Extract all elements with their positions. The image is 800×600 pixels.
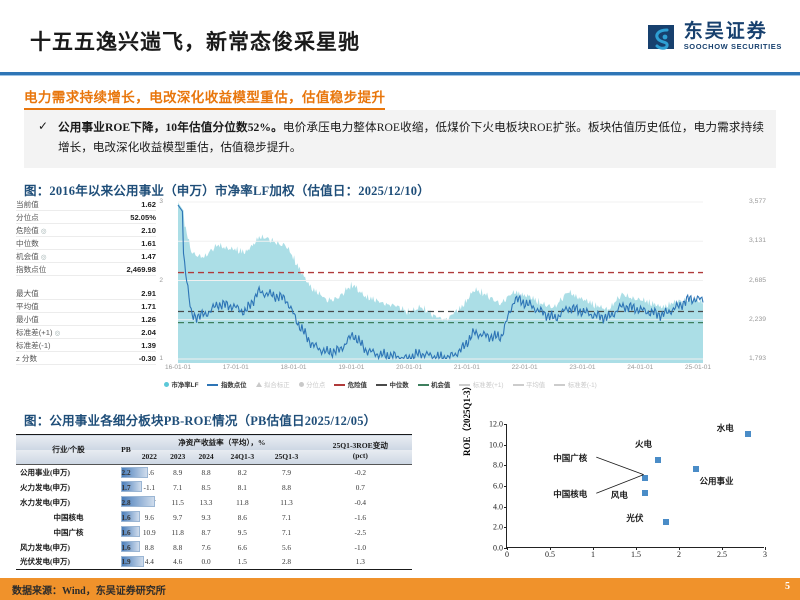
table-row[interactable]: 水力发电(申万)2.810.711.513.311.811.3-0.4 xyxy=(16,495,412,510)
scatter-point[interactable] xyxy=(642,490,648,496)
cell-pb: 2.2 xyxy=(117,465,135,480)
scatter-y-tickmark xyxy=(504,424,507,425)
legend-dash-icon xyxy=(376,384,387,386)
chart1-left-axis: 321 xyxy=(156,198,164,363)
legend-line-icon xyxy=(207,384,218,386)
cell-pb: 1.6 xyxy=(117,525,135,540)
scatter-y-tickmark xyxy=(504,507,507,508)
slide-header: 十五五逸兴遄飞，新常态俊采星驰 东吴证券 SOOCHOW SECURITIES xyxy=(0,0,800,74)
stat-row: 分位点52.05% xyxy=(16,211,156,224)
cell-industry: 光伏发电(申万) xyxy=(16,555,117,570)
stat-value: 1.26 xyxy=(141,313,156,325)
cell-roe: 7.6 xyxy=(192,540,220,555)
cell-roe: 4.6 xyxy=(164,555,192,570)
chart1-plot-area xyxy=(164,198,744,363)
cell-pb: 1.9 xyxy=(117,555,135,570)
stat-value: 2,469.98 xyxy=(126,263,156,275)
axis-tick: 19-01-01 xyxy=(338,364,364,371)
stat-label: 当前值 xyxy=(16,198,39,210)
stat-row: 标准差(+1) ◎2.04 xyxy=(16,326,156,339)
cell-industry: 中国核电 xyxy=(16,510,117,525)
cell-roe: 8.8 xyxy=(164,540,192,555)
scatter-x-tickmark xyxy=(636,547,637,550)
stats-group-top: 当前值1.62分位点52.05%危险值 ◎2.10中位数1.61机会值 ◎1.4… xyxy=(16,198,156,276)
axis-tick: 20-01-01 xyxy=(396,364,422,371)
scatter-x-tickmark xyxy=(722,547,723,550)
scatter-annotation: 风电 xyxy=(611,489,628,501)
cell-industry: 风力发电(申万) xyxy=(16,540,117,555)
scatter-annotation: 火电 xyxy=(635,438,652,450)
stat-row: 标准差(-1)1.39 xyxy=(16,339,156,352)
legend-item[interactable]: 机会值 xyxy=(418,380,451,389)
th-year: 2024 xyxy=(192,450,220,465)
cell-roe-delta: -0.4 xyxy=(309,495,412,510)
legend-dot-icon xyxy=(164,382,169,387)
scatter-x-tickmark xyxy=(765,547,766,550)
axis-tick: 16-01-01 xyxy=(165,364,191,371)
legend-dot-icon xyxy=(299,382,304,387)
stat-label: 指数点位 xyxy=(16,263,46,275)
chart1-area-series xyxy=(178,203,703,363)
cell-roe: 8.5 xyxy=(192,480,220,495)
axis-tick: 24-01-01 xyxy=(627,364,653,371)
cell-roe: 8.8 xyxy=(192,465,220,480)
th-year: 25Q1-3 xyxy=(264,450,308,465)
axis-tick: 1 xyxy=(159,355,163,362)
stat-row: 平均值1.71 xyxy=(16,300,156,313)
scatter-point[interactable] xyxy=(655,457,661,463)
scatter-annotation: 中国广核 xyxy=(553,452,587,464)
pb-value: 1.9 xyxy=(117,557,135,566)
legend-dash-icon xyxy=(418,384,429,386)
table-row[interactable]: 火力发电(申万)1.7-1.17.18.58.18.80.7 xyxy=(16,480,412,495)
cell-roe: 11.8 xyxy=(220,495,264,510)
page-number: 5 xyxy=(785,581,790,592)
cell-industry: 水力发电(申万) xyxy=(16,495,117,510)
th-year: 24Q1-3 xyxy=(220,450,264,465)
legend-item[interactable]: 分位点 xyxy=(299,380,326,389)
cell-pb: 2.8 xyxy=(117,495,135,510)
axis-tick: 18-01-01 xyxy=(281,364,307,371)
check-icon: ✓ xyxy=(38,119,48,134)
summary-lead: 公用事业ROE下降，10年估值分位数52%。 xyxy=(58,121,283,134)
valuation-chart-panel: 当前值1.62分位点52.05%危险值 ◎2.10中位数1.61机会值 ◎1.4… xyxy=(16,198,784,394)
scatter-point[interactable] xyxy=(693,466,699,472)
cell-roe: 7.1 xyxy=(264,525,308,540)
cell-roe: 9.7 xyxy=(164,510,192,525)
logo-text-zh: 东吴证券 xyxy=(684,22,782,41)
cell-roe-delta: -2.5 xyxy=(309,525,412,540)
stat-label: 机会值 ◎ xyxy=(16,250,47,262)
cell-roe: 13.3 xyxy=(192,495,220,510)
stat-row: 危险值 ◎2.10 xyxy=(16,224,156,237)
legend-item[interactable]: 标准差(-1) xyxy=(554,380,597,389)
stat-label: 最大值 xyxy=(16,287,39,299)
figure1-caption: 图：2016年以来公用事业（申万）市净率LF加权（估值日：2025/12/10） xyxy=(24,180,430,199)
page-title: 十五五逸兴遄飞，新常态俊采星驰 xyxy=(30,26,360,56)
axis-tick: 1,793 xyxy=(749,355,766,362)
header-divider-light xyxy=(0,75,800,76)
stats-group-bottom: 最大值2.91平均值1.71最小值1.26标准差(+1) ◎2.04标准差(-1… xyxy=(16,287,156,365)
cell-pb: 1.6 xyxy=(117,510,135,525)
pb-value: 1.7 xyxy=(117,483,135,492)
stat-value: 1.47 xyxy=(141,250,156,262)
legend-triangle-icon xyxy=(256,382,262,387)
gear-icon: ◎ xyxy=(41,228,47,235)
scatter-y-tickmark xyxy=(504,465,507,466)
pb-roe-table: 行业/个股 PB 净资产收益率（平均），% 25Q1-3ROE变动 (pct) … xyxy=(16,434,412,570)
legend-item[interactable]: 中位数 xyxy=(376,380,409,389)
legend-item[interactable]: 指数点位 xyxy=(207,380,246,389)
cell-roe: 11.3 xyxy=(264,495,308,510)
scatter-x-tickmark xyxy=(507,547,508,550)
stat-row: 机会值 ◎1.47 xyxy=(16,250,156,263)
axis-tick: 3,577 xyxy=(749,198,766,205)
cell-roe: 8.1 xyxy=(220,480,264,495)
axis-tick: 3,131 xyxy=(749,237,766,244)
stat-label: 危险值 ◎ xyxy=(16,224,47,236)
axis-tick: 17-01-01 xyxy=(223,364,249,371)
legend-label: 拟合标正 xyxy=(264,380,290,389)
cell-roe: 9.5 xyxy=(220,525,264,540)
axis-tick: 23-01-01 xyxy=(569,364,595,371)
scatter-annotation: 公用事业 xyxy=(700,475,734,487)
chart1-svg xyxy=(164,198,744,363)
legend-label: 指数点位 xyxy=(221,380,247,389)
stat-value: 1.39 xyxy=(141,339,156,351)
cell-roe: 11.5 xyxy=(164,495,192,510)
legend-label: 标准差(+1) xyxy=(473,380,504,389)
stat-row: z 分数-0.30 xyxy=(16,352,156,365)
scatter-x-tickmark xyxy=(550,547,551,550)
valuation-stats-table: 当前值1.62分位点52.05%危险值 ◎2.10中位数1.61机会值 ◎1.4… xyxy=(16,198,156,365)
slide-footer: 数据来源：Wind，东吴证券研究所 5 xyxy=(0,578,800,600)
stat-label: 最小值 xyxy=(16,313,39,325)
stat-row: 指数点位2,469.98 xyxy=(16,263,156,276)
gear-icon: ◎ xyxy=(41,254,47,261)
figure2-caption: 图：公用事业各细分板块PB-ROE情况（PB估值日2025/12/05） xyxy=(24,410,376,429)
pb-value: 1.6 xyxy=(117,528,135,537)
pb-value: 2.2 xyxy=(117,468,135,477)
stat-label: 分位点 xyxy=(16,211,39,223)
th-roe-delta-l1: 25Q1-3ROE变动 xyxy=(333,441,388,450)
stat-label: 平均值 xyxy=(16,300,39,312)
cell-roe: 0.0 xyxy=(192,555,220,570)
cell-roe: 7.1 xyxy=(264,510,308,525)
cell-roe-delta: 0.7 xyxy=(309,480,412,495)
scatter-annotation: 光伏 xyxy=(626,512,643,524)
axis-tick: 2,685 xyxy=(749,277,766,284)
legend-dash-icon xyxy=(334,384,345,386)
logo-text-en: SOOCHOW SECURITIES xyxy=(684,41,782,52)
table-header-row-1: 行业/个股 PB 净资产收益率（平均），% 25Q1-3ROE变动 (pct) xyxy=(16,435,412,450)
cell-roe: 1.5 xyxy=(220,555,264,570)
cell-roe: 8.8 xyxy=(264,480,308,495)
pb-value: 2.8 xyxy=(117,498,135,507)
cell-roe: 9.3 xyxy=(192,510,220,525)
scatter-annotation: 中国核电 xyxy=(553,488,587,500)
table-row[interactable]: 中国核电1.69.69.79.38.67.1-1.6 xyxy=(16,510,412,525)
axis-tick: 3 xyxy=(159,198,163,205)
company-logo: 东吴证券 SOOCHOW SECURITIES xyxy=(648,22,782,52)
axis-tick: 2,239 xyxy=(749,316,766,323)
table-header: 行业/个股 PB 净资产收益率（平均），% 25Q1-3ROE变动 (pct) … xyxy=(16,435,412,465)
scatter-y-tickmark xyxy=(504,486,507,487)
pb-roe-scatter: ROE（2025Q1-3） PB 0.02.04.06.08.010.012.0… xyxy=(462,418,784,588)
axis-tick: 22-01-01 xyxy=(512,364,538,371)
summary-bullet: ✓ 公用事业ROE下降，10年估值分位数52%。电价承压电力整体ROE收缩，低煤… xyxy=(38,118,764,158)
scatter-annotation: 水电 xyxy=(717,422,734,434)
cell-pb: 1.7 xyxy=(117,480,135,495)
pb-value: 1.6 xyxy=(117,543,135,552)
cell-industry: 火力发电(申万) xyxy=(16,480,117,495)
slide-root: 十五五逸兴遄飞，新常态俊采星驰 东吴证券 SOOCHOW SECURITIES … xyxy=(0,0,800,600)
table-body: 公用事业(申万)2.25.68.98.88.27.9-0.2火力发电(申万)1.… xyxy=(16,465,412,570)
stat-label: 中位数 xyxy=(16,237,39,249)
stat-row: 当前值1.62 xyxy=(16,198,156,211)
pb-value: 1.6 xyxy=(117,513,135,522)
legend-label: 危险值 xyxy=(348,380,367,389)
stat-value: 1.62 xyxy=(141,198,156,210)
stats-spacer xyxy=(16,276,156,287)
cell-roe: 6.6 xyxy=(220,540,264,555)
chart1-right-axis: 3,5773,1312,6852,2391,793 xyxy=(747,198,797,363)
scatter-x-tickmark xyxy=(679,547,680,550)
cell-roe-delta: 1.3 xyxy=(309,555,412,570)
cell-roe: 7.9 xyxy=(264,465,308,480)
scatter-point[interactable] xyxy=(745,431,751,437)
scatter-y-tickmark xyxy=(504,527,507,528)
cell-roe: 5.6 xyxy=(264,540,308,555)
source-note: 数据来源：Wind，东吴证券研究所 xyxy=(12,582,166,597)
legend-dash-icon xyxy=(554,384,565,386)
cell-roe: 7.1 xyxy=(164,480,192,495)
stat-label: z 分数 xyxy=(16,352,37,364)
legend-label: 平均值 xyxy=(526,380,545,389)
stat-label: 标准差(+1) ◎ xyxy=(16,326,60,338)
cell-pb: 1.6 xyxy=(117,540,135,555)
th-pb: PB xyxy=(117,435,135,465)
legend-item[interactable]: 拟合标正 xyxy=(256,380,290,389)
legend-item[interactable]: 市净率LF xyxy=(164,380,198,389)
stat-row: 最大值2.91 xyxy=(16,287,156,300)
th-roe-delta: 25Q1-3ROE变动 (pct) xyxy=(309,435,412,465)
cell-roe-delta: -1.6 xyxy=(309,510,412,525)
cell-roe-delta: -0.2 xyxy=(309,465,412,480)
cell-roe: 2.8 xyxy=(264,555,308,570)
legend-label: 分位点 xyxy=(306,380,325,389)
stat-value: 2.91 xyxy=(141,287,156,299)
stat-value: 2.10 xyxy=(141,224,156,236)
th-roe-delta-l2: (pct) xyxy=(353,451,368,460)
legend-dash-icon xyxy=(513,384,524,386)
stat-value: 1.61 xyxy=(141,237,156,249)
table-row[interactable]: 风力发电(申万)1.68.88.87.66.65.6-1.0 xyxy=(16,540,412,555)
legend-label: 标准差(-1) xyxy=(568,380,597,389)
cell-industry: 公用事业(申万) xyxy=(16,465,117,480)
cell-roe-delta: -1.0 xyxy=(309,540,412,555)
summary-box: ✓ 公用事业ROE下降，10年估值分位数52%。电价承压电力整体ROE收缩，低煤… xyxy=(24,110,776,168)
cell-industry: 中国广核 xyxy=(16,525,117,540)
scatter-point[interactable] xyxy=(663,519,669,525)
cell-roe: 8.6 xyxy=(220,510,264,525)
scatter-x-tickmark xyxy=(593,547,594,550)
stat-value: 1.71 xyxy=(141,300,156,312)
th-roe-group: 净资产收益率（平均），% xyxy=(135,435,308,450)
section-headline: 电力需求持续增长，电改深化收益模型重估，估值稳步提升 xyxy=(24,86,385,110)
table-row[interactable]: 中国广核1.610.911.88.79.57.1-2.5 xyxy=(16,525,412,540)
cell-roe: 8.7 xyxy=(192,525,220,540)
stat-row: 最小值1.26 xyxy=(16,313,156,326)
legend-item[interactable]: 平均值 xyxy=(513,380,546,389)
stat-value: 52.05% xyxy=(130,211,156,223)
axis-tick: 25-01-01 xyxy=(685,364,711,371)
table-row[interactable]: 光伏发电(申万)1.94.44.60.01.52.81.3 xyxy=(16,555,412,570)
legend-label: 市净率LF xyxy=(172,380,199,389)
th-industry: 行业/个股 xyxy=(16,435,117,465)
axis-tick: 2 xyxy=(159,277,163,284)
scatter-y-tickmark xyxy=(504,445,507,446)
stat-label: 标准差(-1) xyxy=(16,339,51,351)
cell-roe: 8.2 xyxy=(220,465,264,480)
scatter-y-label: ROE（2025Q1-3） xyxy=(460,381,473,456)
chart1-x-axis: 16-01-0117-01-0118-01-0119-01-0120-01-01… xyxy=(164,364,744,376)
legend-label: 机会值 xyxy=(431,380,450,389)
th-year: 2022 xyxy=(135,450,163,465)
legend-label: 中位数 xyxy=(389,380,408,389)
stat-value: 2.04 xyxy=(141,326,156,338)
stat-row: 中位数1.61 xyxy=(16,237,156,250)
legend-item[interactable]: 危险值 xyxy=(334,380,367,389)
stat-value: -0.30 xyxy=(139,352,156,364)
gear-icon: ◎ xyxy=(55,330,61,337)
summary-paragraph: 公用事业ROE下降，10年估值分位数52%。电价承压电力整体ROE收缩，低煤价下… xyxy=(58,118,764,158)
cell-roe: 8.9 xyxy=(164,465,192,480)
cell-roe: 11.8 xyxy=(164,525,192,540)
soochow-logo-icon xyxy=(648,22,678,52)
th-year: 2023 xyxy=(164,450,192,465)
scatter-point[interactable] xyxy=(642,475,648,481)
table-row[interactable]: 公用事业(申万)2.25.68.98.88.27.9-0.2 xyxy=(16,465,412,480)
axis-tick: 21-01-01 xyxy=(454,364,480,371)
